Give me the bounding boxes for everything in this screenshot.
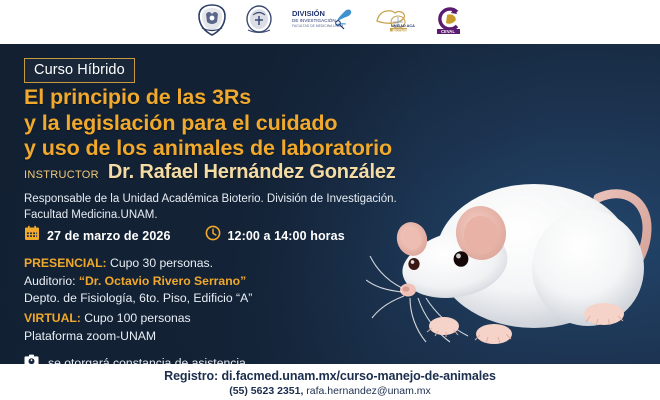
- svg-text:DE INVESTIGACIÓN: DE INVESTIGACIÓN: [292, 17, 336, 23]
- instructor-name: Dr. Rafael Hernández González: [108, 161, 396, 184]
- virtual-label: VIRTUAL:: [24, 311, 81, 325]
- title-line-1: El principio de las 3Rs: [24, 85, 392, 111]
- ceval-logo: CEVAL: [433, 4, 463, 41]
- svg-text:UNIDAD ACADÉMICA: UNIDAD ACADÉMICA: [391, 23, 415, 28]
- certificate-text: se otorgará constancia de asistencia.: [48, 356, 249, 364]
- affiliation-line-2: Facultad Medicina.UNAM.: [24, 207, 397, 223]
- instructor-label: INSTRUCTOR: [24, 169, 99, 181]
- poster-panel: Curso Híbrido El principio de las 3Rs y …: [0, 44, 660, 364]
- laboratory-rat-image: [366, 138, 660, 364]
- presencial-label: PRESENCIAL:: [24, 256, 107, 270]
- virtual-plataforma: Plataforma zoom-UNAM: [24, 328, 191, 346]
- virtual-cupo: Cupo 100 personas: [84, 311, 190, 325]
- page-title: El principio de las 3Rs y la legislación…: [24, 85, 392, 162]
- event-time-text: 12:00 a 14:00 horas: [228, 229, 345, 243]
- clock-icon: [205, 225, 221, 246]
- unidad-academica-bioterio-logo: UNIDAD ACADÉMICA BIOTERIO: [371, 5, 415, 40]
- contact-phone: (55) 5623 2351,: [229, 385, 303, 397]
- footer: Registro: di.facmed.unam.mx/curso-manejo…: [0, 364, 660, 400]
- svg-text:BIOTERIO: BIOTERIO: [393, 28, 411, 32]
- registration-link[interactable]: Registro: di.facmed.unam.mx/curso-manejo…: [0, 369, 660, 383]
- auditorio-label: Auditorio:: [24, 274, 76, 288]
- presencial-cupo: Cupo 30 personas.: [110, 256, 213, 270]
- affiliation-line-1: Responsable de la Unidad Académica Biote…: [24, 191, 397, 207]
- presencial-cupo-line: PRESENCIAL: Cupo 30 personas.: [24, 255, 252, 273]
- virtual-cupo-line: VIRTUAL: Cupo 100 personas: [24, 310, 191, 328]
- logo-bar: DIVISIÓN DE INVESTIGACIÓN FACULTAD DE ME…: [0, 0, 660, 44]
- certificate-row: se otorgará constancia de asistencia.: [24, 354, 249, 364]
- unam-shield-logo: [197, 4, 227, 41]
- event-date: 27 de marzo de 2026: [24, 225, 171, 246]
- course-type-badge: Curso Híbrido: [24, 58, 135, 83]
- event-meta-row: 27 de marzo de 2026 12:00 a 14:00 horas: [24, 225, 345, 246]
- event-date-text: 27 de marzo de 2026: [47, 229, 171, 243]
- facultad-medicina-logo: [245, 4, 273, 41]
- virtual-block: VIRTUAL: Cupo 100 personas Plataforma zo…: [24, 310, 191, 345]
- instructor-affiliation: Responsable de la Unidad Académica Biote…: [24, 191, 397, 223]
- calendar-icon: [24, 225, 40, 246]
- title-line-3: y uso de los animales de laboratorio: [24, 136, 392, 162]
- contact-line: (55) 5623 2351, rafa.hernandez@unam.mx: [0, 385, 660, 397]
- division-investigacion-logo: DIVISIÓN DE INVESTIGACIÓN FACULTAD DE ME…: [291, 6, 353, 39]
- auditorio-address: Depto. de Fisiología, 6to. Piso, Edifici…: [24, 290, 252, 308]
- svg-text:DIVISIÓN: DIVISIÓN: [292, 9, 325, 18]
- contact-email[interactable]: rafa.hernandez@unam.mx: [306, 385, 430, 397]
- svg-text:FACULTAD DE MEDICINA UNAM: FACULTAD DE MEDICINA UNAM: [292, 24, 343, 28]
- certificate-icon: [24, 354, 39, 364]
- auditorio-name: “Dr. Octavio Rivero Serrano”: [79, 274, 246, 288]
- instructor-row: INSTRUCTOR Dr. Rafael Hernández González: [24, 161, 396, 184]
- svg-text:CEVAL: CEVAL: [441, 29, 455, 34]
- auditorio-line: Auditorio: “Dr. Octavio Rivero Serrano”: [24, 273, 252, 291]
- presencial-block: PRESENCIAL: Cupo 30 personas. Auditorio:…: [24, 255, 252, 308]
- title-line-2: y la legislación para el cuidado: [24, 111, 392, 137]
- event-time: 12:00 a 14:00 horas: [205, 225, 345, 246]
